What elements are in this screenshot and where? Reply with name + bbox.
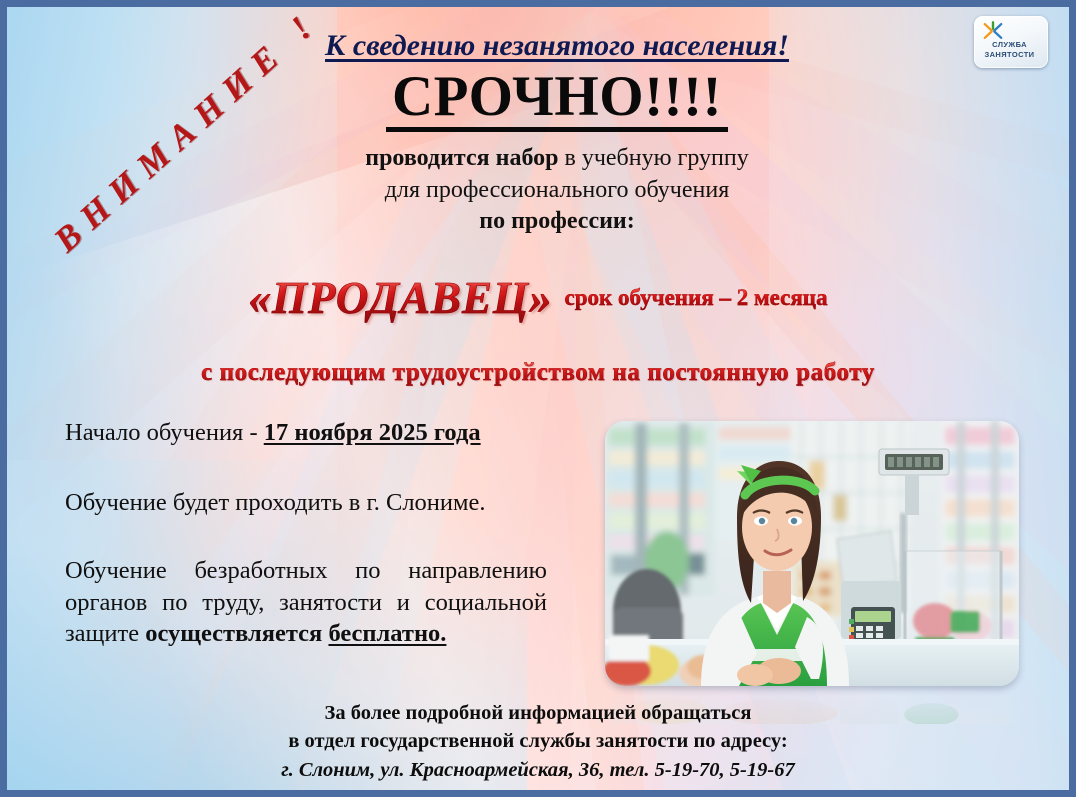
recruitment-text: проводится набор в учебную группу для пр… [207, 143, 907, 237]
logo-text: СЛУЖБА ЗАНЯТОСТИ [974, 40, 1045, 60]
start-date: 17 ноября 2025 года [264, 419, 481, 446]
free-training-keyword: бесплатно. [328, 620, 446, 647]
details-column: Начало обучения - 17 ноября 2025 года Об… [65, 417, 547, 650]
start-label: Начало обучения - [65, 419, 264, 446]
profession-line: «ПРОДАВЕЦ»срок обучения – 2 месяца [7, 272, 1069, 324]
recruitment-bold: проводится набор [365, 145, 558, 171]
contact-line-2: в отдел государственной службы занятости… [7, 727, 1069, 755]
headline-subtitle: К сведению незанятого населения! [207, 29, 907, 63]
cashier-photo [605, 421, 1019, 686]
poster-slide: ВНИМАНИЕ ! СЛУЖБА ЗАНЯТОСТИ К сведению н… [0, 0, 1076, 797]
free-training-bold: осуществляется [145, 620, 322, 647]
logo-text-line2: ЗАНЯТОСТИ [974, 50, 1045, 60]
course-duration: срок обучения – 2 месяца [565, 285, 828, 310]
cashier-photo-image [605, 421, 1019, 686]
recruitment-rest: в учебную группу [558, 145, 748, 171]
contact-address: г. Слоним, ул. Красноармейская, 36, тел.… [7, 756, 1069, 784]
city-paragraph: Обучение будет проходить в г. Слониме. [65, 487, 547, 519]
profession-title: «ПРОДАВЕЦ» [248, 273, 552, 323]
start-date-paragraph: Начало обучения - 17 ноября 2025 года [65, 417, 547, 449]
headline-block: К сведению незанятого населения! СРОЧНО!… [207, 29, 907, 237]
recruitment-line-2: для профессионального обучения [207, 175, 907, 206]
recruitment-line-1: проводится набор в учебную группу [207, 143, 907, 174]
recruitment-line-3: по профессии: [207, 206, 907, 237]
employment-service-logo: СЛУЖБА ЗАНЯТОСТИ [974, 16, 1048, 68]
contact-footer: За более подробной информацией обращатьс… [7, 699, 1069, 784]
contact-line-1: За более подробной информацией обращатьс… [7, 699, 1069, 727]
employment-promise: с последующим трудоустройством на постоя… [7, 359, 1069, 387]
logo-text-line1: СЛУЖБА [974, 40, 1045, 50]
free-training-paragraph: Обучение безработных по направлению орга… [65, 555, 547, 651]
employment-service-star-icon [982, 21, 1004, 41]
headline-urgent: СРОЧНО!!!! [386, 67, 728, 133]
